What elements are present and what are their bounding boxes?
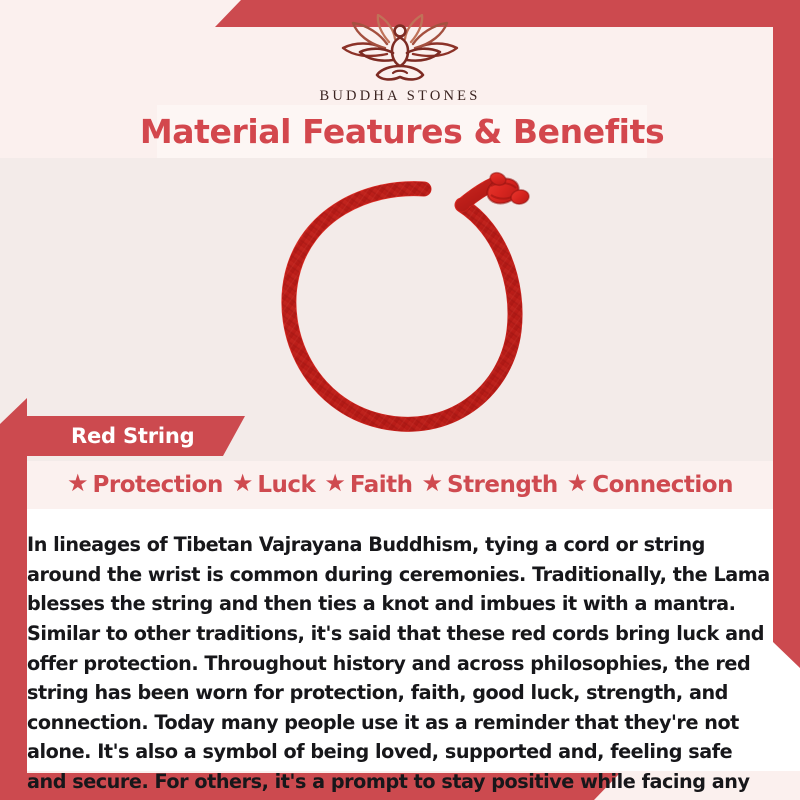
product-label-banner: Red String: [27, 416, 245, 456]
star-icon: ★: [421, 472, 443, 496]
benefit-label: Faith: [350, 472, 413, 498]
star-icon: ★: [324, 472, 346, 496]
benefit-label: Strength: [447, 472, 558, 498]
red-braided-string-bracelet-image: [248, 165, 568, 461]
benefits-row: ★ Protection ★ Luck ★ Faith ★ Strength ★…: [27, 464, 773, 506]
star-icon: ★: [232, 472, 254, 496]
brand-name: BUDDHA STONES: [0, 88, 800, 105]
decor-bar-left: [0, 398, 27, 800]
benefit-label: Luck: [257, 472, 315, 498]
description-paragraph: In lineages of Tibetan Vajrayana Buddhis…: [27, 530, 775, 800]
benefit-label: Connection: [592, 472, 733, 498]
brand-logo: BUDDHA STONES: [0, 14, 800, 105]
benefit-item: ★ Connection: [564, 472, 736, 498]
material-features-poster: BUDDHA STONES Material Features & Benefi…: [0, 0, 800, 800]
star-icon: ★: [567, 472, 589, 496]
benefit-item: ★ Luck: [229, 472, 318, 498]
benefit-label: Protection: [93, 472, 223, 498]
product-label-text: Red String: [27, 424, 194, 448]
benefit-item: ★ Strength: [418, 472, 560, 498]
page-title: Material Features & Benefits: [140, 112, 664, 151]
title-ribbon: Material Features & Benefits: [157, 105, 647, 158]
lotus-meditation-figure-icon: [325, 14, 475, 86]
star-icon: ★: [67, 472, 89, 496]
benefit-item: ★ Protection: [64, 472, 226, 498]
benefit-item: ★ Faith: [321, 472, 415, 498]
